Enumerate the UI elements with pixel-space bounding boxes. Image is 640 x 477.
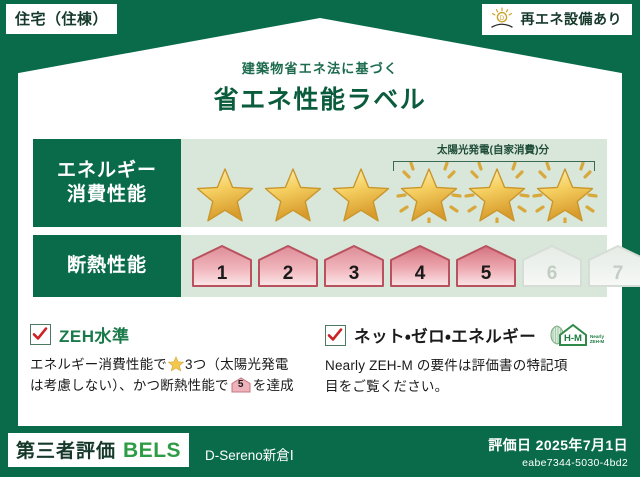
criteria-net-zero-energy: ネット・ゼロ・エネルギー H-M Nearly ZEH-M Nearly ZEH… <box>325 322 617 398</box>
checkbox-checked-icon <box>30 324 51 345</box>
criteria-nze-header: ネット・ゼロ・エネルギー H-M Nearly ZEH-M <box>325 322 617 348</box>
svg-text:D: D <box>499 16 504 22</box>
star-icon <box>259 161 327 223</box>
insulation-grade-6: 6 <box>521 244 583 288</box>
insulation-performance-label-box: 断熱性能 <box>33 235 181 297</box>
insulation-label: 断熱性能 <box>67 254 147 278</box>
criteria-zeh-header: ZEH水準 <box>30 322 316 347</box>
star-glyph <box>399 167 459 223</box>
insulation-grade-3: 3 <box>323 244 385 288</box>
heading-subtitle: 建築物省エネ法に基づく <box>0 58 640 77</box>
grade-value: 2 <box>283 263 294 285</box>
insulation-grade-area: 1234567 <box>181 235 607 297</box>
criteria-zeh-text-star: 3つ（太陽光発電 <box>185 357 289 372</box>
criteria-zeh-title: ZEH水準 <box>59 322 130 347</box>
criteria-nze-title: ネット・ゼロ・エネルギー <box>354 323 536 347</box>
insulation-grade-2: 2 <box>257 244 319 288</box>
renewable-energy-badge: D 再エネ設備あり <box>482 4 633 35</box>
star-glyph <box>467 167 527 223</box>
criteria-zeh-text-2: は考慮しない）、かつ断熱性能で <box>30 378 229 393</box>
grade-value: 7 <box>613 263 624 285</box>
star-glyph <box>331 167 391 223</box>
criteria-zeh-text-1: エネルギー消費性能で <box>30 357 167 372</box>
energy-label-line2: 消費性能 <box>67 183 147 207</box>
property-name: D-Sereno新倉Ⅰ <box>205 444 294 464</box>
star-icon <box>327 161 395 223</box>
checkbox-checked-icon <box>325 325 346 346</box>
check-mark-icon <box>327 327 343 343</box>
evaluation-id: eabe7344-5030-4bd2 <box>488 457 628 469</box>
criteria-zeh-text-3: を達成 <box>253 378 294 393</box>
energy-performance-row: エネルギー 消費性能 太陽光発電(自家消費)分 <box>33 139 607 227</box>
star-glyph <box>263 167 323 223</box>
criteria-zeh: ZEH水準 エネルギー消費性能で3つ（太陽光発電は考慮しない）、かつ断熱性能で5… <box>30 322 316 397</box>
grade-value: 6 <box>547 263 558 285</box>
criteria-nze-text-1: Nearly ZEH-M の要件は評価書の特記項 <box>325 358 568 373</box>
energy-performance-label-box: エネルギー 消費性能 <box>33 139 181 227</box>
criteria-zeh-body: エネルギー消費性能で3つ（太陽光発電は考慮しない）、かつ断熱性能で5を達成 <box>30 354 316 397</box>
category-tag: 住宅（住棟） <box>6 4 117 34</box>
insulation-grade-scale: 1234567 <box>191 244 640 288</box>
svg-text:ZEH-M: ZEH-M <box>590 339 605 344</box>
insulation-grade-5: 5 <box>455 244 517 288</box>
energy-performance-label: 住宅（住棟） D 再エネ設備あり 建築物省エネ法に基づく 省エネ性能ラベル <box>0 0 640 477</box>
svg-text:H-M: H-M <box>564 333 582 344</box>
page-title: 省エネ性能ラベル <box>0 80 640 116</box>
solar-bracket-label: 太陽光発電(自家消費)分 <box>381 142 605 157</box>
inline-grade-badge: 5 <box>231 377 251 393</box>
evaluation-info: 評価日 2025年7月1日 eabe7344-5030-4bd2 <box>488 435 628 469</box>
inline-star-icon <box>168 356 184 372</box>
zeh-m-logo-icon: H-M Nearly ZEH-M <box>544 322 607 348</box>
grade-value: 3 <box>349 263 360 285</box>
bels-plate: 第三者評価 BELS <box>8 433 189 467</box>
solar-bracket <box>393 161 595 171</box>
label-heading: 建築物省エネ法に基づく 省エネ性能ラベル <box>0 58 640 116</box>
renewable-badge-label: 再エネ設備あり <box>521 9 623 29</box>
grade-value: 5 <box>481 263 492 285</box>
grade-value: 4 <box>415 263 426 285</box>
grade-value: 1 <box>217 263 228 285</box>
insulation-grade-7: 7 <box>587 244 640 288</box>
insulation-grade-1: 1 <box>191 244 253 288</box>
insulation-performance-row: 断熱性能 1234567 <box>33 235 607 297</box>
third-party-label: 第三者評価 <box>16 436 116 463</box>
inline-grade-value: 5 <box>231 377 251 393</box>
zeh-m-logo-svg: H-M Nearly ZEH-M <box>547 322 607 348</box>
label-footer: 第三者評価 BELS D-Sereno新倉Ⅰ 評価日 2025年7月1日 eab… <box>0 429 640 477</box>
star-glyph <box>195 167 255 223</box>
star-glyph <box>535 167 595 223</box>
check-mark-icon <box>32 326 48 342</box>
sun-icon: D <box>489 7 515 31</box>
bels-logo-text: BELS <box>123 439 181 463</box>
sun-icon-svg: D <box>489 7 515 31</box>
star-icon <box>191 161 259 223</box>
insulation-grade-4: 4 <box>389 244 451 288</box>
energy-rating-area: 太陽光発電(自家消費)分 <box>181 139 607 227</box>
criteria-nze-body: Nearly ZEH-M の要件は評価書の特記項目をご覧ください。 <box>325 355 617 398</box>
criteria-nze-text-2: 目をご覧ください。 <box>325 379 448 394</box>
evaluation-date: 評価日 2025年7月1日 <box>488 435 628 455</box>
energy-label-line1: エネルギー <box>57 159 157 183</box>
